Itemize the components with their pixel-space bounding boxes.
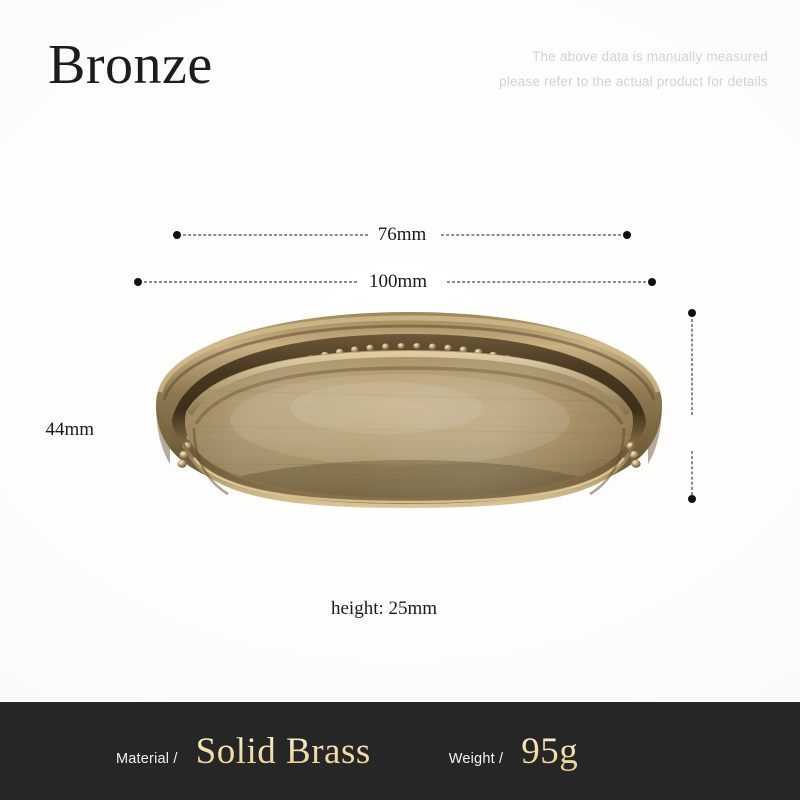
page-title: Bronze [48,34,213,96]
dimension-width-inner: 76mm [173,229,631,241]
bead-highlight [633,461,637,464]
dimension-endpoint-dot [173,231,181,239]
dimension-height [686,309,698,503]
dimension-endpoint-dot [623,231,631,239]
bead-highlight [368,346,371,348]
bead [398,343,405,349]
bead [429,344,436,350]
bead-highlight [337,350,340,352]
dimension-dash-segment [447,282,646,283]
dimension-dash-segment [692,451,693,495]
product-image-bronze-cup-pull [150,308,668,508]
dimension-endpoint-dot [688,309,696,317]
spec-footer-bar: Material / Solid Brass Weight / 95g [0,702,800,800]
bead-highlight [628,443,632,446]
bead [366,345,373,352]
bead [413,343,420,349]
material-label: Material / [116,751,178,767]
cup-pull-handle-icon [150,308,668,508]
bead-highlight [352,347,355,349]
bead-highlight [181,452,185,455]
dimension-label-100: 100mm [361,271,435,293]
bead [177,460,186,468]
bead-highlight [179,461,183,464]
bead-highlight [461,347,464,349]
bead-highlight [446,346,449,348]
bead-highlight [383,344,386,346]
depth-caption: height: 25mm [331,598,437,620]
disclaimer-line-2: please refer to the actual product for d… [499,69,768,94]
bead [444,345,451,352]
spec-sheet-canvas: Bronze The above data is manually measur… [0,0,800,800]
bead [631,460,640,468]
dimension-dash-segment [692,319,693,415]
bead-highlight [476,350,479,352]
dimension-dash-segment [183,235,368,236]
material-value: Solid Brass [196,730,371,773]
weight-label: Weight / [449,751,504,767]
disclaimer-note: The above data is manually measured plea… [499,44,768,94]
dimension-endpoint-dot [134,278,142,286]
spec-weight: Weight / 95g [449,730,579,773]
dimension-label-76: 76mm [370,224,435,246]
dimension-dash-segment [441,235,621,236]
disclaimer-line-1: The above data is manually measured [499,44,768,69]
dimension-label-44: 44mm [45,419,94,441]
bead-highlight [430,344,433,346]
spec-material: Material / Solid Brass [116,730,371,773]
bead-highlight [414,344,417,346]
weight-value: 95g [521,730,578,773]
dimension-width-outer: 100mm [134,276,656,288]
dimension-dash-segment [144,282,357,283]
dimension-endpoint-dot [648,278,656,286]
dimension-endpoint-dot [688,495,696,503]
bead [382,344,389,350]
bead-highlight [399,344,402,346]
